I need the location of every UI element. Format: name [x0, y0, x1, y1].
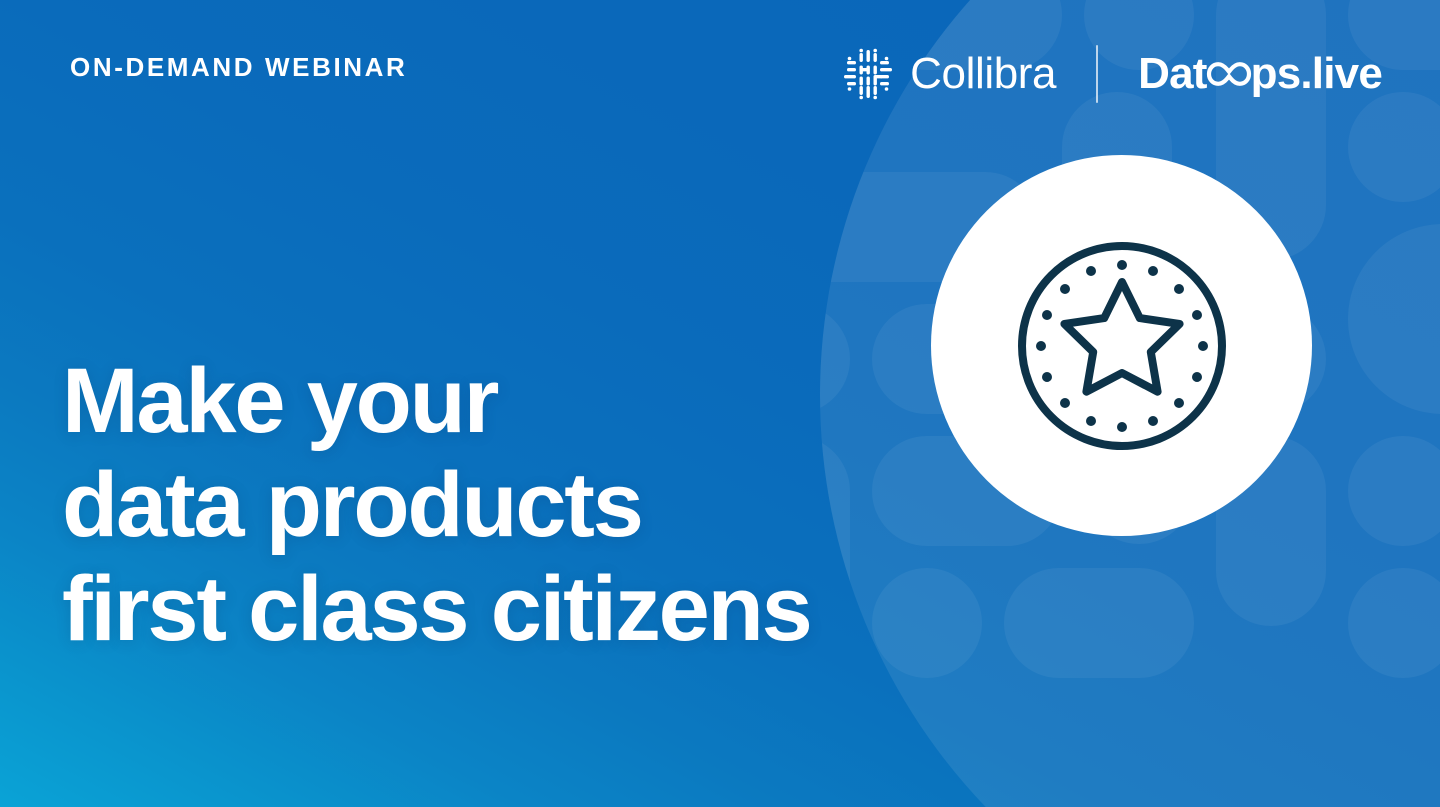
- star-badge: [931, 155, 1312, 536]
- webinar-banner: ON-DEMAND WEBINAR: [0, 0, 1440, 807]
- logo-divider: [1096, 45, 1098, 103]
- eyebrow-label: ON-DEMAND WEBINAR: [70, 54, 407, 80]
- dataops-wordmark-prefix: Dat: [1138, 52, 1207, 96]
- collibra-grid-mark-icon: [842, 48, 894, 100]
- dataops-wordmark-suffix: ps.live: [1251, 52, 1382, 96]
- star-badge-icon: [1012, 236, 1232, 456]
- collibra-logo: Collibra: [842, 48, 1056, 100]
- dataops-logo: Dat ps.live: [1138, 52, 1382, 96]
- infinity-icon: [1206, 59, 1252, 89]
- logo-lockup: Collibra Dat ps.live: [842, 38, 1382, 110]
- page-title: Make your data products first class citi…: [62, 350, 811, 662]
- collibra-wordmark: Collibra: [910, 52, 1056, 96]
